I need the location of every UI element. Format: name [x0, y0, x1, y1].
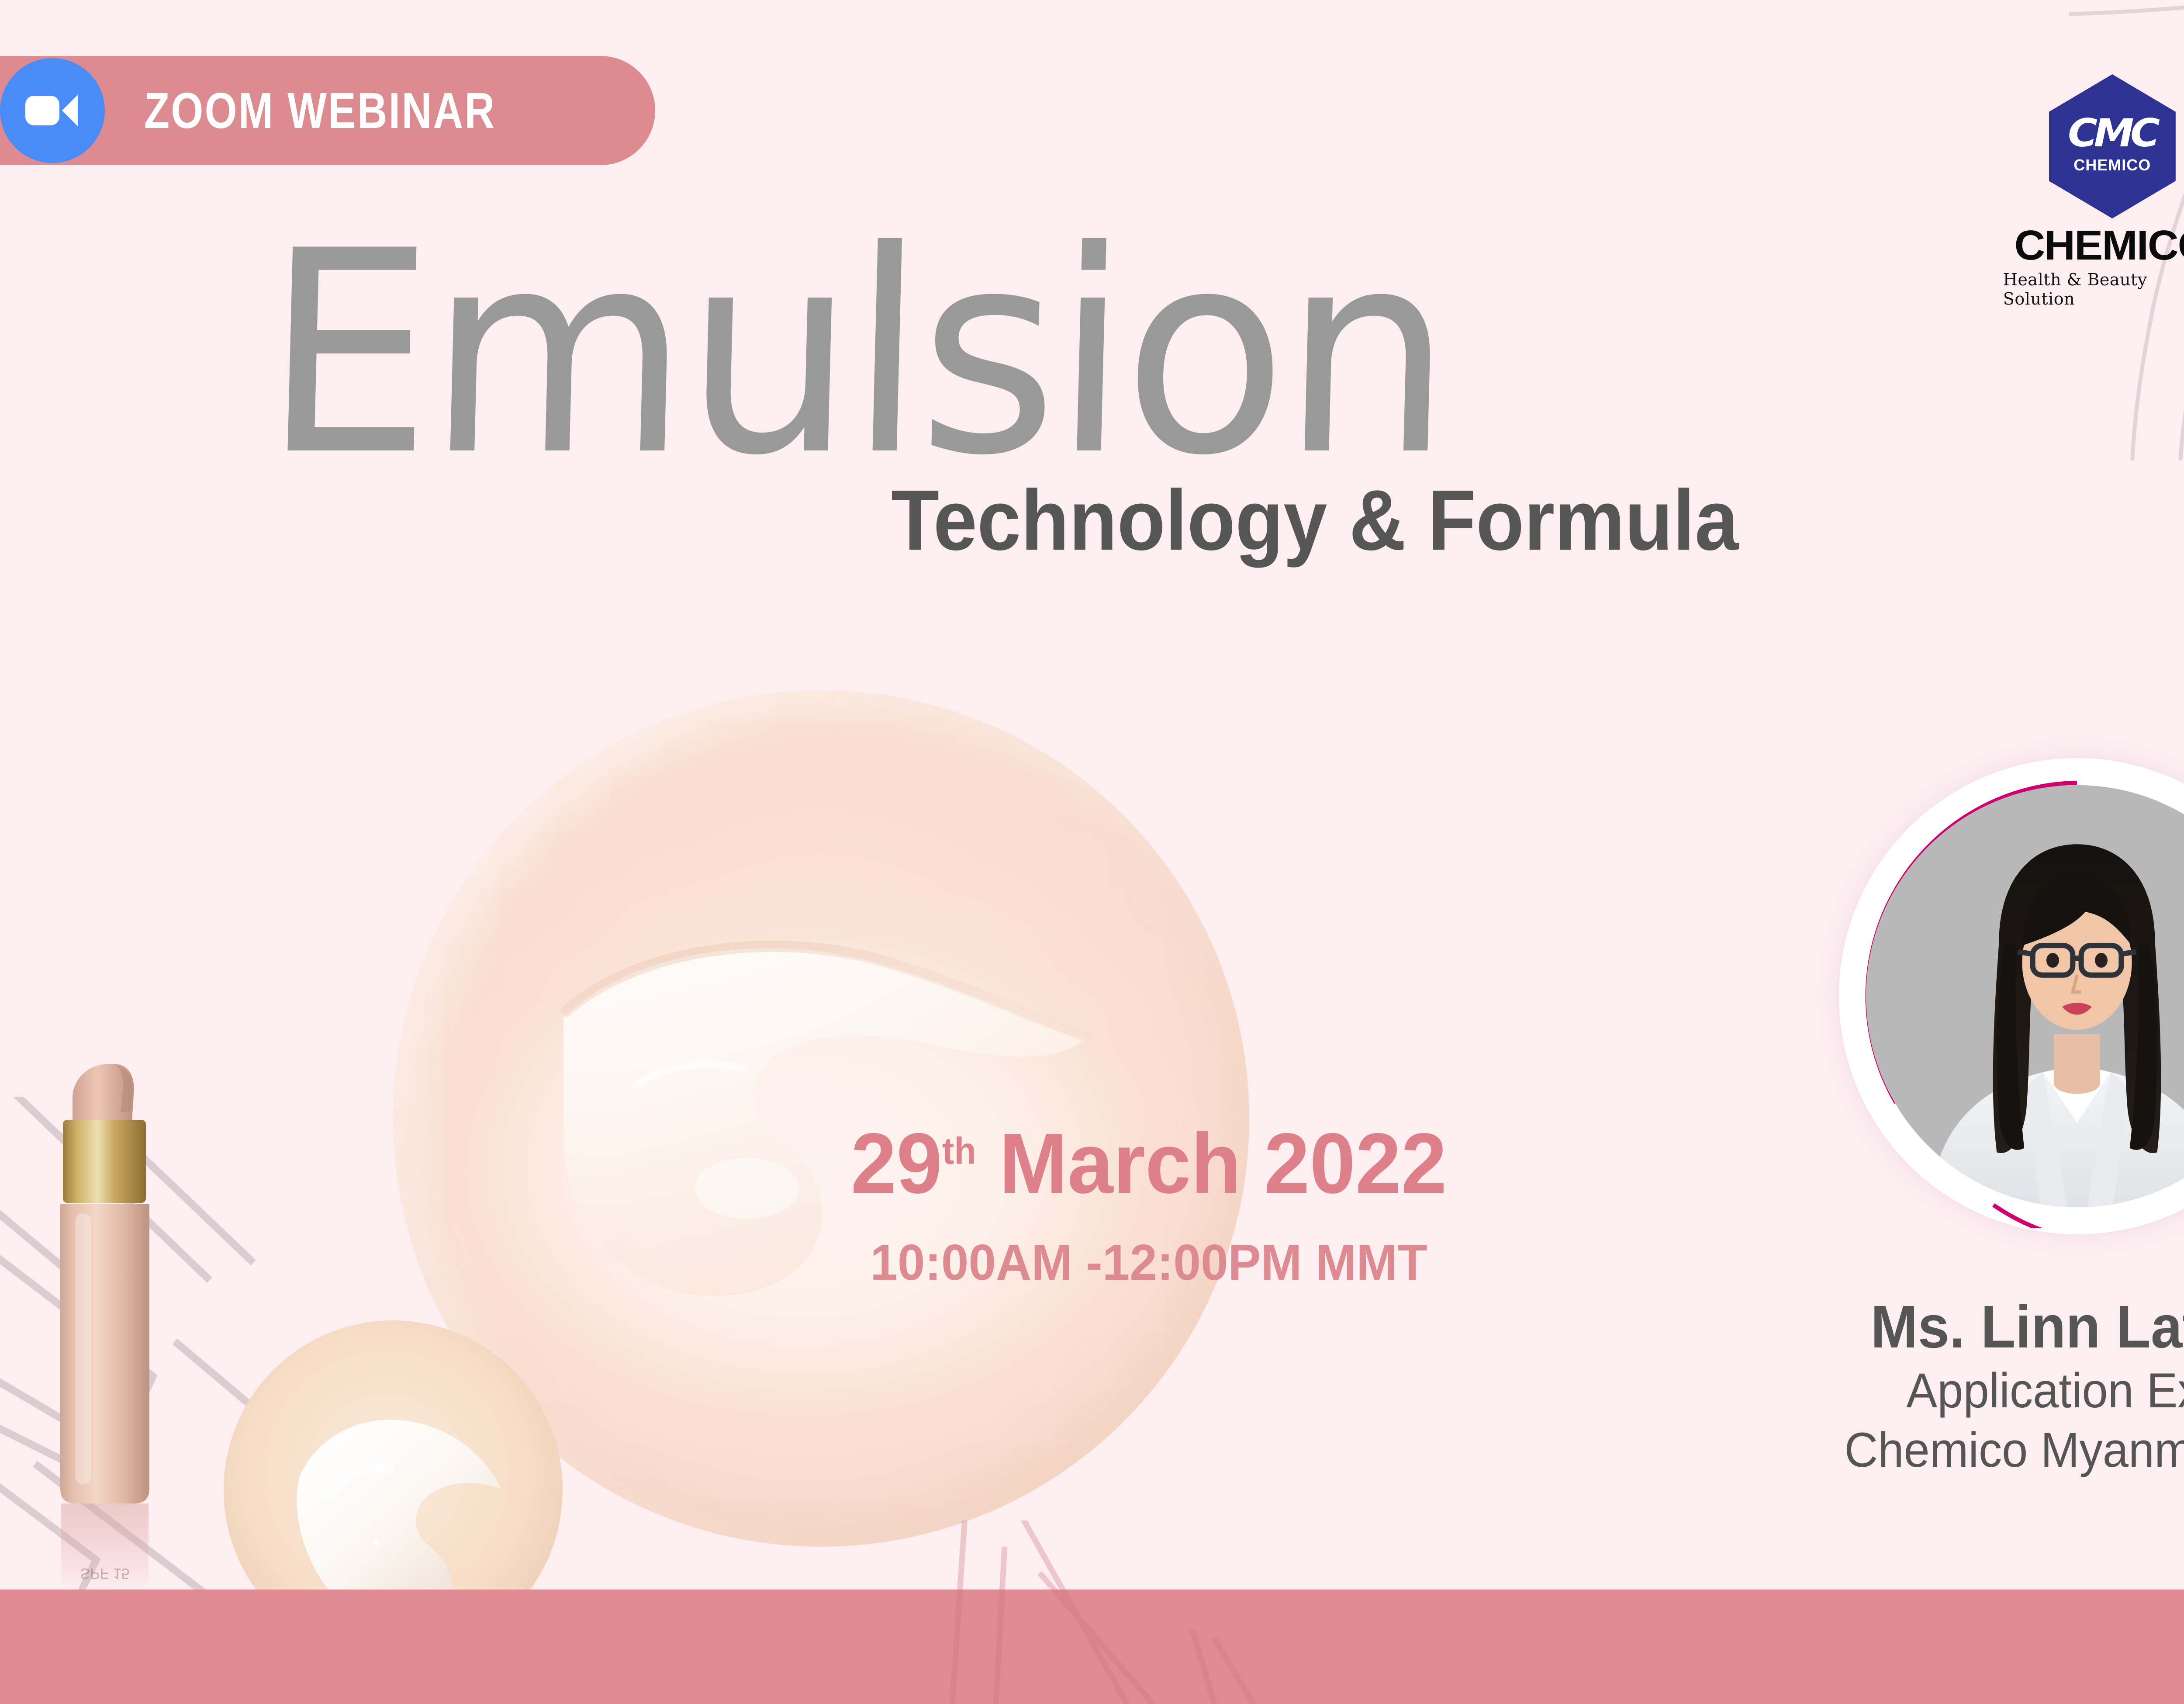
- event-day-suffix: th: [942, 1130, 976, 1172]
- avatar: [1866, 785, 2184, 1207]
- zoom-video-camera-icon: [0, 58, 105, 163]
- zoom-webinar-label: ZOOM WEBINAR: [144, 81, 496, 140]
- event-time: 10:00AM -12:00PM MMT: [683, 1233, 1615, 1292]
- speaker-info-block: Ms. Linn Latt Kyaw Application Executive…: [1695, 1293, 2184, 1480]
- headline-block: Emulsion Technology & Formula: [266, 245, 2057, 563]
- bottle-spf-label: SPF 15: [80, 1565, 129, 1582]
- event-date: 29th March 2022: [688, 1119, 1610, 1209]
- page-title: Emulsion: [261, 245, 1986, 463]
- speaker-role: Application Executive: [1717, 1361, 2184, 1421]
- speaker-organization: Chemico Myanmar Co.,Ltd.: [1717, 1420, 2184, 1480]
- bottom-rose-bar: [0, 1590, 2184, 1704]
- event-datetime-block: 29th March 2022 10:00AM -12:00PM MMT: [668, 1119, 1629, 1292]
- chemico-hexagon-mark: CMC CHEMICO: [2049, 74, 2176, 218]
- event-month-year: March 2022: [999, 1115, 1447, 1211]
- speaker-photo-frame: [1839, 758, 2184, 1234]
- webinar-poster: SPF 15: [0, 0, 2184, 1704]
- page-subtitle: Technology & Formula: [891, 478, 1964, 563]
- chemico-hex-subtext: CHEMICO: [2073, 156, 2151, 174]
- chemico-cmc-text: CMC: [2068, 116, 2156, 150]
- speaker-name: Ms. Linn Latt Kyaw: [1721, 1293, 2184, 1361]
- zoom-webinar-badge[interactable]: ZOOM WEBINAR: [0, 56, 655, 165]
- event-day: 29: [851, 1115, 942, 1211]
- cosmetic-pump-bottle: SPF 15: [48, 1046, 245, 1593]
